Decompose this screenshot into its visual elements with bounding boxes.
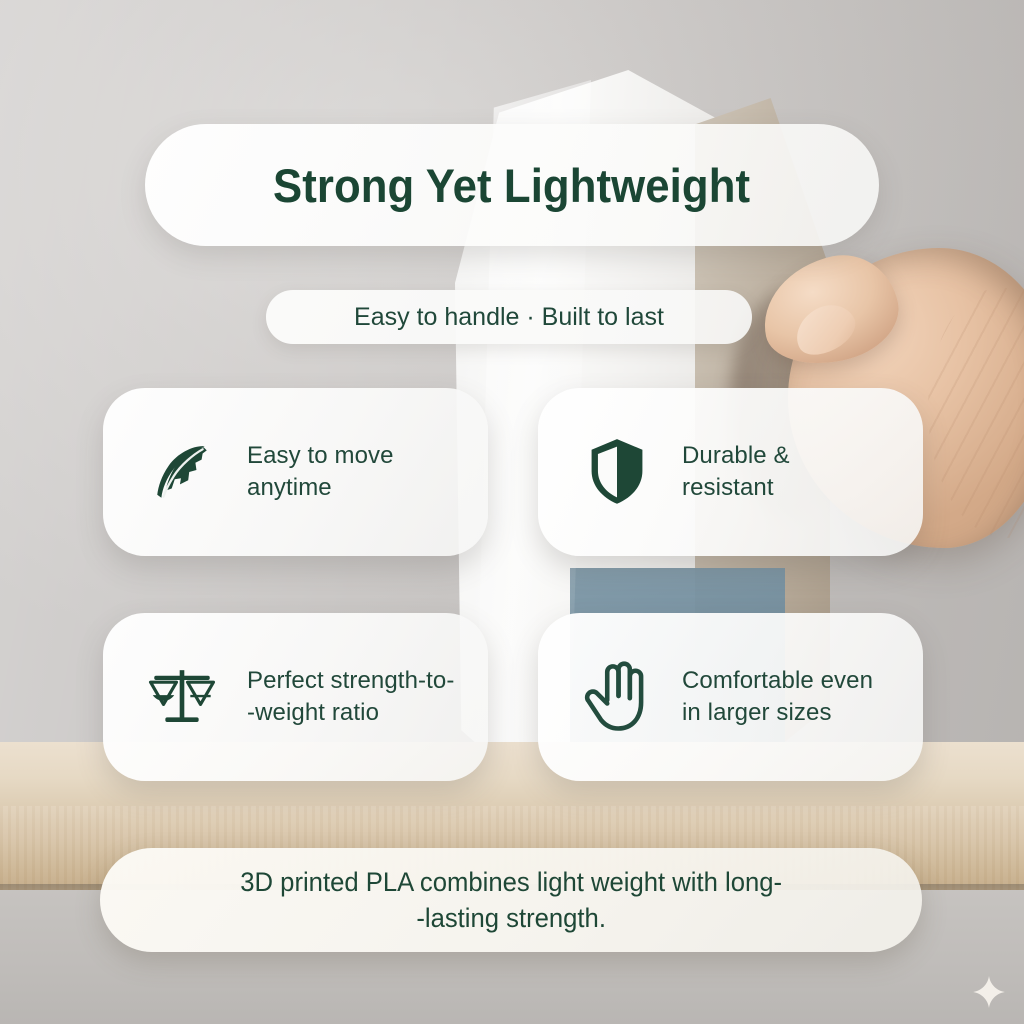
feature-label: Durable & resistant (682, 440, 790, 504)
feature-label: Perfect strength-to- -weight ratio (247, 665, 454, 729)
footer-text: 3D printed PLA combines light weight wit… (240, 864, 782, 936)
page-title: Strong Yet Lightweight (273, 158, 750, 213)
feature-card-easy-to-move[interactable]: Easy to move anytime (103, 388, 488, 556)
title-pill: Strong Yet Lightweight (145, 124, 879, 246)
shield-icon (580, 436, 654, 508)
infographic-overlay: Strong Yet Lightweight Easy to handle · … (0, 0, 1024, 1024)
feature-label: Comfortable even in larger sizes (682, 665, 873, 729)
hand-icon (580, 659, 654, 735)
feature-card-comfortable[interactable]: Comfortable even in larger sizes (538, 613, 923, 781)
feature-card-durable[interactable]: Durable & resistant (538, 388, 923, 556)
feature-card-strength-to-weight[interactable]: Perfect strength-to- -weight ratio (103, 613, 488, 781)
page-subtitle: Easy to handle · Built to last (354, 303, 664, 332)
footer-pill: 3D printed PLA combines light weight wit… (100, 848, 922, 952)
subtitle-pill: Easy to handle · Built to last (266, 290, 752, 344)
scales-icon (145, 662, 219, 732)
sparkle-icon (972, 975, 1006, 1009)
feature-label: Easy to move anytime (247, 440, 394, 504)
feather-icon (145, 439, 219, 505)
